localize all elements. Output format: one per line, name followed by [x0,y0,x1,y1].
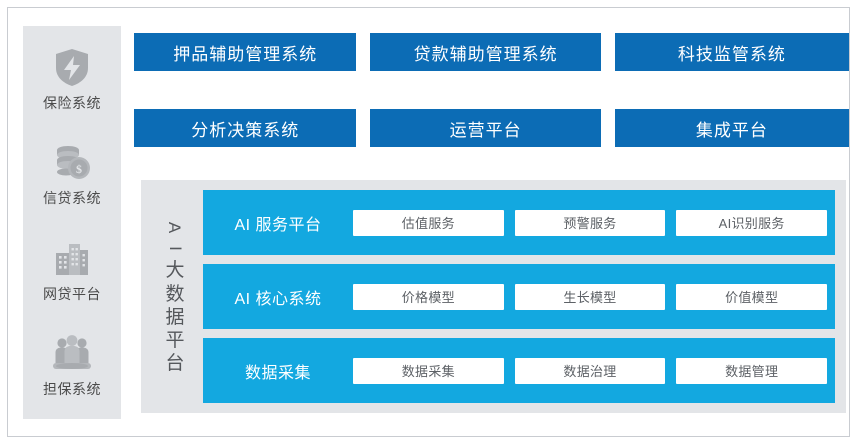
sidebar-item-label: 担保系统 [43,379,101,399]
chip-group: 价格模型 生长模型 价值模型 [353,284,827,310]
chip-group: 数据采集 数据治理 数据管理 [353,358,827,384]
vertical-char: I [165,246,184,251]
top-bar-loan-mgmt[interactable]: 贷款辅助管理系统 [370,33,600,71]
coins-dollar-icon: $ [51,141,93,183]
top-bar-label: 运营平台 [450,116,522,141]
top-bar-operations-platform[interactable]: 运营平台 [370,109,600,147]
chip-group: 估值服务 预警服务 AI识别服务 [353,210,827,236]
vertical-char: 数 [165,284,184,305]
top-bar-label: 分析决策系统 [191,116,299,141]
top-bar-row-1: 押品辅助管理系统 贷款辅助管理系统 科技监管系统 [8,33,849,71]
top-bar-analysis-decision[interactable]: 分析决策系统 [134,109,356,147]
platform-rows: AI 服务平台 估值服务 预警服务 AI识别服务 AI 核心系统 价格模型 生长… [203,190,835,403]
top-bar-tech-supervision[interactable]: 科技监管系统 [615,33,849,71]
svg-text:$: $ [76,162,82,176]
top-bar-row-2: 分析决策系统 运营平台 集成平台 [8,109,849,147]
platform-row-ai-service[interactable]: AI 服务平台 估值服务 预警服务 AI识别服务 [203,190,835,255]
chip-alert-service[interactable]: 预警服务 [515,210,666,236]
diagram-frame: 保险系统 $ 信贷系统 [7,7,850,437]
top-bar-label: 贷款辅助管理系统 [414,40,558,65]
vertical-char: 大 [165,260,184,281]
buildings-icon [51,237,93,279]
people-group-icon [51,332,93,374]
sidebar-item-credit[interactable]: $ 信贷系统 [23,141,121,208]
sidebar: 保险系统 $ 信贷系统 [23,26,121,419]
top-bar-collateral-mgmt[interactable]: 押品辅助管理系统 [134,33,356,71]
vertical-char: 台 [165,353,184,374]
platform-vertical-title: A I 大 数 据 平 台 [151,190,199,403]
chip-data-management[interactable]: 数据管理 [676,358,827,384]
chip-value-model[interactable]: 价值模型 [676,284,827,310]
vertical-char: A [165,222,184,233]
sidebar-item-online-lending[interactable]: 网贷平台 [23,237,121,304]
platform-row-label: 数据采集 [203,359,353,383]
vertical-char: 据 [165,307,184,328]
chip-valuation-service[interactable]: 估值服务 [353,210,504,236]
top-bar-label: 押品辅助管理系统 [173,40,317,65]
sidebar-item-label: 信贷系统 [43,188,101,208]
sidebar-item-label: 网贷平台 [43,284,101,304]
chip-growth-model[interactable]: 生长模型 [515,284,666,310]
sidebar-item-guarantee[interactable]: 担保系统 [23,332,121,399]
chip-data-collection[interactable]: 数据采集 [353,358,504,384]
top-bar-label: 集成平台 [696,116,768,141]
chip-price-model[interactable]: 价格模型 [353,284,504,310]
chip-data-governance[interactable]: 数据治理 [515,358,666,384]
platform-row-label: AI 核心系统 [203,285,353,309]
vertical-char: 平 [165,330,184,351]
top-bar-label: 科技监管系统 [678,40,786,65]
top-bar-integration-platform[interactable]: 集成平台 [615,109,849,147]
ai-bigdata-platform-panel: A I 大 数 据 平 台 AI 服务平台 估值服务 预警服务 AI识别服务 A… [141,180,846,413]
platform-row-data-collection[interactable]: 数据采集 数据采集 数据治理 数据管理 [203,338,835,403]
platform-row-ai-core[interactable]: AI 核心系统 价格模型 生长模型 价值模型 [203,264,835,329]
chip-ai-recognition-service[interactable]: AI识别服务 [676,210,827,236]
platform-row-label: AI 服务平台 [203,211,353,235]
